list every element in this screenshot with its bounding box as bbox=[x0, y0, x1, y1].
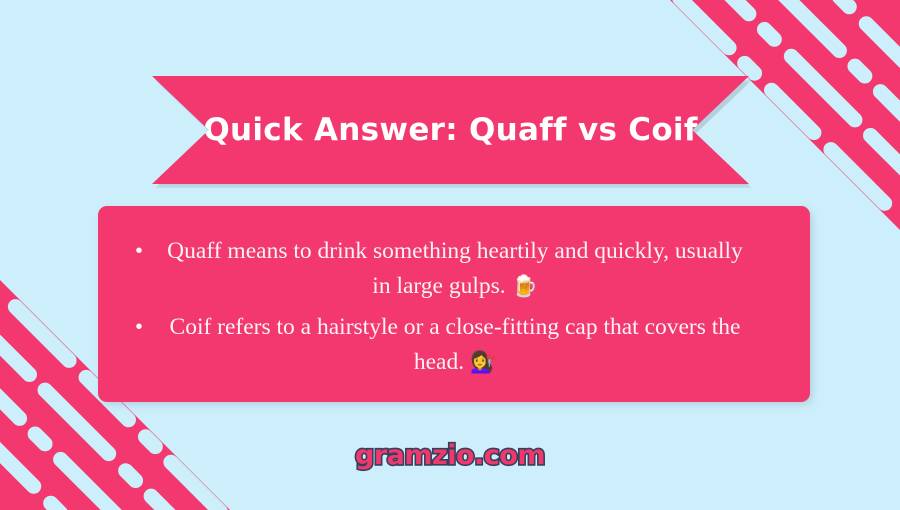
slide-canvas: Quick Answer: Quaff vs Coif • Quaff mean… bbox=[0, 0, 900, 510]
page-title: Quick Answer: Quaff vs Coif bbox=[203, 115, 697, 146]
logo-wordmark: gramzio.com bbox=[355, 440, 545, 471]
bullet-dot-icon: • bbox=[116, 310, 162, 345]
banner-ribbon: Quick Answer: Quaff vs Coif bbox=[152, 76, 749, 184]
list-item-body: Coif refers to a hairstyle or a close-fi… bbox=[170, 314, 741, 375]
list-item-text: Quaff means to drink something heartily … bbox=[162, 234, 792, 304]
list-item: • Quaff means to drink something heartil… bbox=[116, 234, 792, 304]
beer-mug-emoji: 🍺 bbox=[512, 274, 538, 298]
list-item: • Coif refers to a hairstyle or a close-… bbox=[116, 310, 792, 380]
logo: gramzio.com bbox=[0, 440, 900, 471]
bullet-list: • Quaff means to drink something heartil… bbox=[116, 234, 792, 380]
answer-card: • Quaff means to drink something heartil… bbox=[98, 206, 810, 402]
woman-getting-haircut-emoji: 💇‍♀️ bbox=[470, 350, 496, 374]
list-item-text: Coif refers to a hairstyle or a close-fi… bbox=[162, 310, 792, 380]
bullet-dot-icon: • bbox=[116, 234, 162, 269]
list-item-body: Quaff means to drink something heartily … bbox=[167, 238, 743, 299]
